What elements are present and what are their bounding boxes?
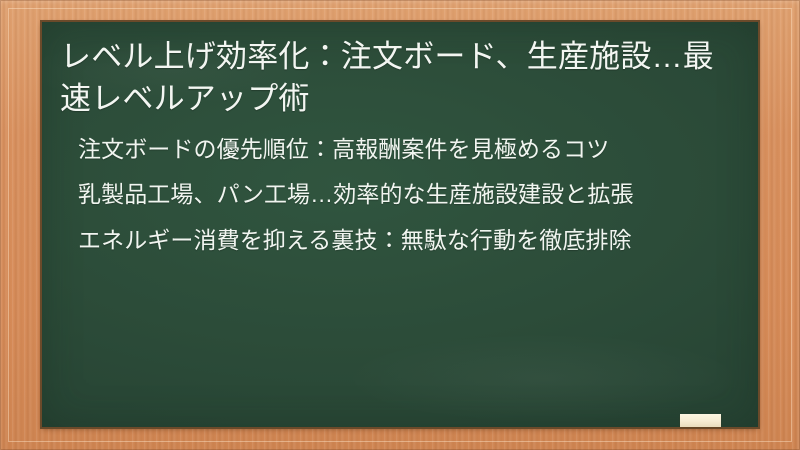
list-item: 乳製品工場、パン工場…効率的な生産施設建設と拡張 [78, 179, 736, 211]
list-item: 注文ボードの優先順位：高報酬案件を見極めるコツ [78, 134, 736, 166]
wooden-frame: レベル上げ効率化：注文ボード、生産施設…最速レベルアップ術 注文ボードの優先順位… [0, 0, 800, 450]
board-content: レベル上げ効率化：注文ボード、生産施設…最速レベルアップ術 注文ボードの優先順位… [42, 22, 758, 257]
list-item: エネルギー消費を抑える裏技：無駄な行動を徹底排除 [78, 225, 736, 257]
chalk-stick-icon [680, 414, 721, 427]
topic-list: 注文ボードの優先順位：高報酬案件を見極めるコツ 乳製品工場、パン工場…効率的な生… [42, 120, 758, 257]
chalkboard: レベル上げ効率化：注文ボード、生産施設…最速レベルアップ術 注文ボードの優先順位… [42, 22, 758, 427]
page-title: レベル上げ効率化：注文ボード、生産施設…最速レベルアップ術 [42, 22, 758, 120]
